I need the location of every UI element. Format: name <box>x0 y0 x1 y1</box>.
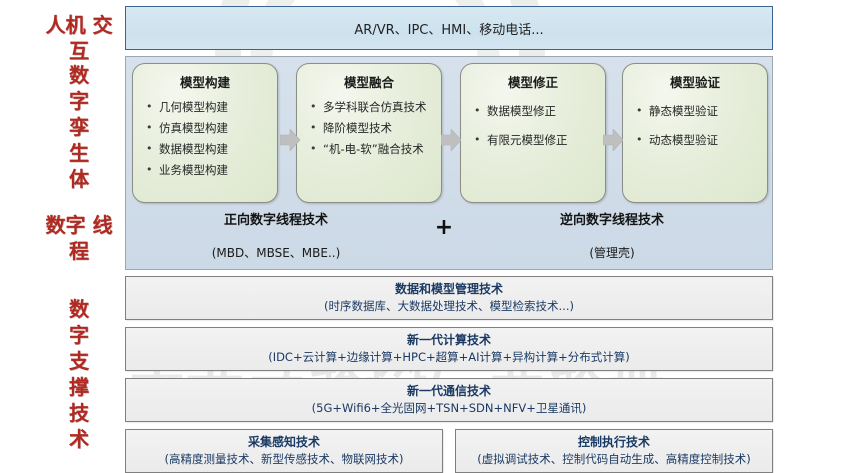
rail-twin-char-0: 数 <box>36 62 122 88</box>
support-card-subtitle: (时序数据库、大数据处理技术、模型检索技术...) <box>130 298 768 315</box>
rail-twin-char-2: 孪 <box>36 114 122 140</box>
stage-item: 有限元模型修正 <box>467 126 599 155</box>
support-card-subtitle: (5G+Wifi6+全光固网+TSN+SDN+NFV+卫星通讯) <box>130 400 768 417</box>
reverse-thread-title: 逆向数字线程技术 <box>462 209 762 228</box>
diagram-page: 工业互联网产业联盟 Alliance of Industrial Interne… <box>0 0 841 463</box>
stage-item: “机-电-软”融合技术 <box>303 139 435 160</box>
stage-item: 几何模型构建 <box>139 97 271 118</box>
stage-title: 模型验证 <box>629 72 761 91</box>
stage-item: 动态模型验证 <box>629 126 761 155</box>
rail-twin-char-3: 生 <box>36 140 122 166</box>
rail-label-human-machine-interaction: 人机 交互 <box>36 12 122 64</box>
rail-twin-char-4: 体 <box>36 166 122 192</box>
support-card-next-gen-computing: 新一代计算技术 (IDC+云计算+边缘计算+HPC+超算+AI计算+异构计算+分… <box>125 327 773 371</box>
model-stage-card-validation: 模型验证 静态模型验证 动态模型验证 <box>622 63 768 203</box>
support-card-title: 控制执行技术 <box>460 434 768 451</box>
digital-thread-row: 正向数字线程技术 (MBD、MBSE、MBE..) + 逆向数字线程技术 (管理… <box>126 209 762 265</box>
rail-support-char-0: 数 <box>36 296 122 322</box>
stage-item: 数据模型修正 <box>467 97 599 126</box>
diagram-body: AR/VR、IPC、HMI、移动电话... 模型构建 几何模型构建 仿真模型构建… <box>125 6 773 457</box>
stage-title: 模型融合 <box>303 72 435 91</box>
rail-label-digital-thread: 数字 线程 <box>36 212 122 264</box>
rail-thread-line1: 数字 <box>46 213 86 237</box>
digital-twin-band: 模型构建 几何模型构建 仿真模型构建 数据模型构建 业务模型构建 模型融合 <box>125 56 773 270</box>
stage-arrow-icon <box>603 129 623 151</box>
stage-item: 数据模型构建 <box>139 139 271 160</box>
support-card-control-execution: 控制执行技术 (虚拟调试技术、控制代码自动生成、高精度控制技术) <box>455 429 773 473</box>
plus-icon: + <box>432 215 456 240</box>
stage-item-list: 数据模型修正 有限元模型修正 <box>467 97 599 155</box>
stage-item-list: 静态模型验证 动态模型验证 <box>629 97 761 155</box>
model-stage-card-fusion: 模型融合 多学科联合仿真技术 降阶模型技术 “机-电-软”融合技术 <box>296 63 442 203</box>
rail-label-digital-twin: 数 字 孪 生 体 <box>36 62 122 192</box>
support-card-subtitle: (高精度测量技术、新型传感技术、物联网技术) <box>130 451 438 468</box>
support-technology-stack: 数据和模型管理技术 (时序数据库、大数据处理技术、模型检索技术...) 新一代计… <box>125 276 773 473</box>
stage-title: 模型修正 <box>467 72 599 91</box>
rail-support-char-3: 撑 <box>36 374 122 400</box>
stage-item: 仿真模型构建 <box>139 118 271 139</box>
hmi-banner: AR/VR、IPC、HMI、移动电话... <box>125 6 773 50</box>
stage-item: 多学科联合仿真技术 <box>303 97 435 118</box>
stage-item: 降阶模型技术 <box>303 118 435 139</box>
layer-label-rail: 人机 交互 数 字 孪 生 体 数字 线程 数 字 支 撑 技 术 <box>36 0 122 463</box>
stage-arrow-icon <box>441 129 461 151</box>
stage-arrow-icon <box>280 129 300 151</box>
rail-twin-char-1: 字 <box>36 88 122 114</box>
support-card-title: 新一代计算技术 <box>130 332 768 349</box>
rail-support-char-1: 字 <box>36 322 122 348</box>
hmi-banner-text: AR/VR、IPC、HMI、移动电话... <box>354 19 543 38</box>
stage-title: 模型构建 <box>139 72 271 91</box>
support-bottom-row: 采集感知技术 (高精度测量技术、新型传感技术、物联网技术) 控制执行技术 (虚拟… <box>125 429 773 473</box>
support-card-title: 数据和模型管理技术 <box>130 281 768 298</box>
support-card-subtitle: (虚拟调试技术、控制代码自动生成、高精度控制技术) <box>460 451 768 468</box>
rail-support-char-4: 技 <box>36 400 122 426</box>
forward-digital-thread: 正向数字线程技术 (MBD、MBSE、MBE..) <box>126 209 426 261</box>
rail-support-char-5: 术 <box>36 426 122 452</box>
rail-label-digital-support-tech: 数 字 支 撑 技 术 <box>36 296 122 452</box>
support-card-title: 采集感知技术 <box>130 434 438 451</box>
stage-item: 静态模型验证 <box>629 97 761 126</box>
support-card-subtitle: (IDC+云计算+边缘计算+HPC+超算+AI计算+异构计算+分布式计算) <box>130 349 768 366</box>
support-card-sensing: 采集感知技术 (高精度测量技术、新型传感技术、物联网技术) <box>125 429 443 473</box>
reverse-thread-subtitle: (管理壳) <box>462 244 762 261</box>
reverse-digital-thread: 逆向数字线程技术 (管理壳) <box>462 209 762 261</box>
rail-support-char-2: 支 <box>36 348 122 374</box>
stage-item: 业务模型构建 <box>139 160 271 181</box>
forward-thread-subtitle: (MBD、MBSE、MBE..) <box>126 244 426 261</box>
support-card-next-gen-communication: 新一代通信技术 (5G+Wifi6+全光固网+TSN+SDN+NFV+卫星通讯) <box>125 378 773 422</box>
model-stage-row: 模型构建 几何模型构建 仿真模型构建 数据模型构建 业务模型构建 模型融合 <box>132 63 768 203</box>
stage-item-list: 几何模型构建 仿真模型构建 数据模型构建 业务模型构建 <box>139 97 271 181</box>
support-card-title: 新一代通信技术 <box>130 383 768 400</box>
support-card-data-model-management: 数据和模型管理技术 (时序数据库、大数据处理技术、模型检索技术...) <box>125 276 773 320</box>
model-stage-card-correction: 模型修正 数据模型修正 有限元模型修正 <box>460 63 606 203</box>
rail-hmi-line1: 人机 <box>46 13 86 37</box>
model-stage-card-construction: 模型构建 几何模型构建 仿真模型构建 数据模型构建 业务模型构建 <box>132 63 278 203</box>
stage-item-list: 多学科联合仿真技术 降阶模型技术 “机-电-软”融合技术 <box>303 97 435 160</box>
forward-thread-title: 正向数字线程技术 <box>126 209 426 228</box>
